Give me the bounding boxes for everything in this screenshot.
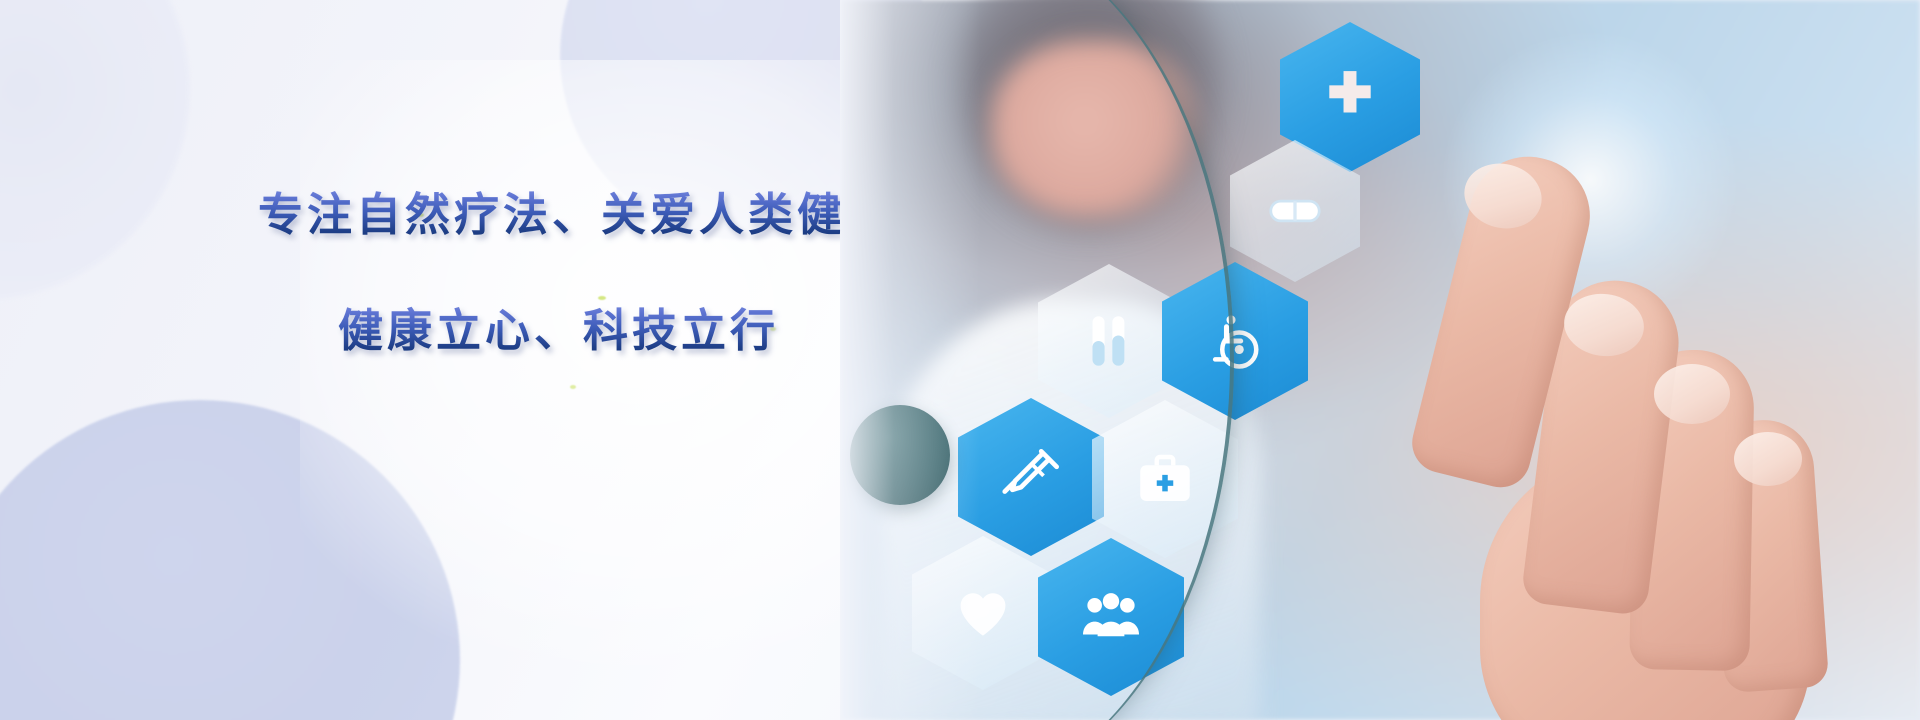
fingernail [1654,364,1730,424]
decorative-circle-left [0,0,190,300]
hero-photo [840,0,1920,720]
hand-graphic [1360,120,1880,720]
speck-dot [570,385,576,389]
hero-banner: 专注自然疗法、关爱人类健康 健康立心、科技立行 [0,0,1920,720]
headline-group: 专注自然疗法、关爱人类健康 健康立心、科技立行 [258,186,878,360]
decorative-circle-bottom [0,400,460,720]
fingernail [1734,432,1802,486]
headline-line-2: 健康立心、科技立行 [338,302,878,360]
headline-line-1: 专注自然疗法、关爱人类健康 [258,186,878,244]
arc-accent-dot [850,405,950,505]
curved-divider-arc [840,0,1234,720]
